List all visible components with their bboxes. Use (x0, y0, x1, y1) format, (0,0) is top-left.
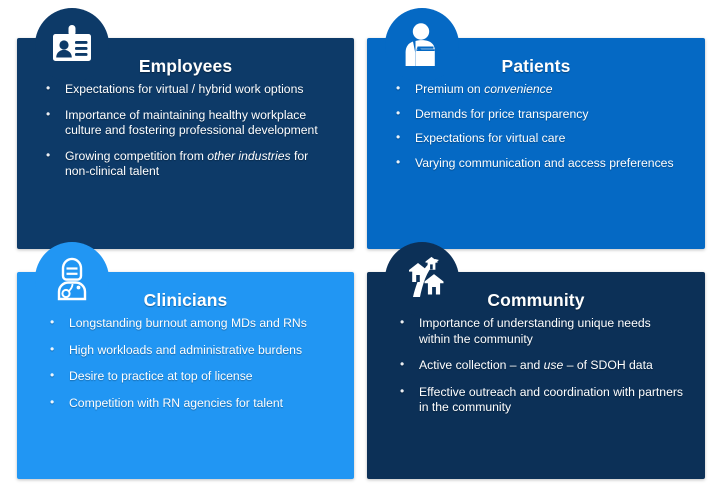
list-item: Expectations for virtual / hybrid work o… (41, 82, 334, 98)
list-item: Demands for price transparency (391, 107, 685, 123)
nurse-stethoscope-icon (35, 242, 109, 316)
list-item: Competition with RN agencies for talent (45, 396, 334, 412)
list-item: Importance of understanding unique needs… (395, 316, 685, 347)
list-item: Longstanding burnout among MDs and RNs (45, 316, 334, 332)
bullet-text: Premium on convenience (415, 82, 553, 96)
list-item: Varying communication and access prefere… (391, 156, 685, 172)
bullet-text: Desire to practice at top of license (69, 369, 253, 383)
bullet-text: Importance of understanding unique needs… (419, 316, 651, 346)
patient-arm-sling-icon (385, 8, 459, 82)
bullet-list-community: Importance of understanding unique needs… (381, 316, 691, 416)
list-item: Growing competition from other industrie… (41, 149, 334, 180)
list-item: Expectations for virtual care (391, 131, 685, 147)
list-item: Premium on convenience (391, 82, 685, 98)
id-badge-icon (35, 8, 109, 82)
list-item: Effective outreach and coordination with… (395, 385, 685, 416)
bullet-text: Active collection – and use – of SDOH da… (419, 358, 653, 372)
list-item: High workloads and administrative burden… (45, 343, 334, 359)
bullet-text: Competition with RN agencies for talent (69, 396, 283, 410)
houses-road-icon (385, 242, 459, 316)
card-patients[interactable]: Patients Premium on convenience Demands … (367, 38, 705, 249)
bullet-text: Growing competition from other industrie… (65, 149, 308, 179)
bullet-text: Importance of maintaining healthy workpl… (65, 108, 318, 138)
bullet-text: High workloads and administrative burden… (69, 343, 302, 357)
bullet-text: Varying communication and access prefere… (415, 156, 674, 170)
bullet-list-employees: Expectations for virtual / hybrid work o… (31, 82, 340, 180)
list-item: Desire to practice at top of license (45, 369, 334, 385)
card-clinicians[interactable]: Clinicians Longstanding burnout among MD… (17, 272, 354, 479)
bullet-text: Demands for price transparency (415, 107, 588, 121)
list-item: Importance of maintaining healthy workpl… (41, 108, 334, 139)
list-item: Active collection – and use – of SDOH da… (395, 358, 685, 374)
bullet-text: Expectations for virtual care (415, 131, 565, 145)
stakeholder-quadrant-diagram: Employees Expectations for virtual / hyb… (0, 0, 720, 495)
card-employees[interactable]: Employees Expectations for virtual / hyb… (17, 38, 354, 249)
bullet-text: Effective outreach and coordination with… (419, 385, 683, 415)
bullet-list-patients: Premium on convenience Demands for price… (381, 82, 691, 171)
bullet-text: Expectations for virtual / hybrid work o… (65, 82, 303, 96)
bullet-text: Longstanding burnout among MDs and RNs (69, 316, 307, 330)
bullet-list-clinicians: Longstanding burnout among MDs and RNs H… (31, 316, 340, 411)
card-community[interactable]: Community Importance of understanding un… (367, 272, 705, 479)
